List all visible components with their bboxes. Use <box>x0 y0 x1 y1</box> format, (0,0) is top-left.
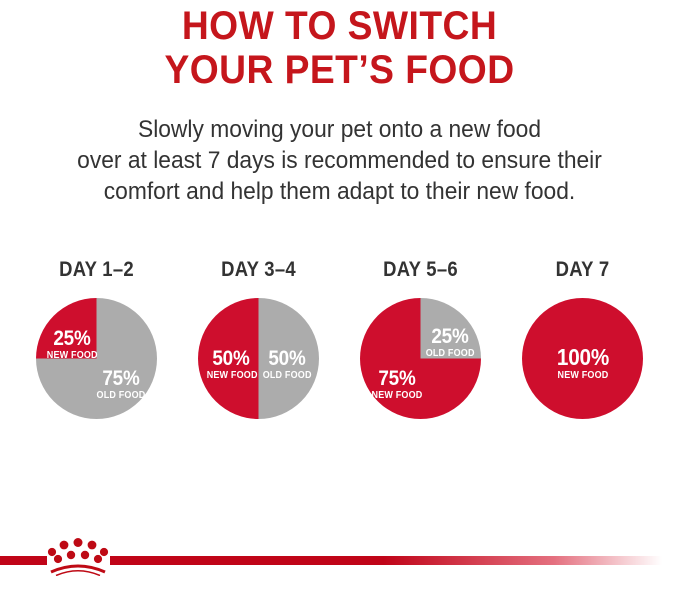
title-line-2: YOUR PET’S FOOD <box>24 48 655 92</box>
intro-line-2: over at least 7 days is recommended to e… <box>17 145 662 176</box>
pie-cell-day-7: DAY 7 100% NEW FOOD <box>502 258 664 419</box>
day-label-4: DAY 7 <box>556 258 610 282</box>
pie-cell-day-1-2: DAY 1–2 25% NEW FOOD 75% OLD FOOD <box>16 258 178 419</box>
pie-chart-day-5-6: 25% OLD FOOD 75% NEW FOOD <box>360 298 481 419</box>
slice-percent: 50% <box>263 348 312 369</box>
royal-canin-crown-icon <box>47 534 109 576</box>
day-label-2: DAY 3–4 <box>221 258 296 282</box>
title-line-1: HOW TO SWITCH <box>24 4 655 48</box>
slice-name: OLD FOOD <box>95 391 147 401</box>
footer-bar-left <box>0 556 47 565</box>
intro-line-3: comfort and help them adapt to their new… <box>17 176 662 207</box>
slice-label-new-food: 25% NEW FOOD <box>44 328 100 361</box>
day-label-3: DAY 5–6 <box>383 258 458 282</box>
day-label-1: DAY 1–2 <box>59 258 134 282</box>
slice-name: OLD FOOD <box>263 371 312 381</box>
footer <box>0 530 679 594</box>
slice-label-new-food: 75% NEW FOOD <box>368 368 426 401</box>
intro-line-1: Slowly moving your pet onto a new food <box>17 114 662 145</box>
page-title: HOW TO SWITCH YOUR PET’S FOOD <box>0 0 679 92</box>
pie-chart-day-3-4: 50% NEW FOOD 50% OLD FOOD <box>198 298 319 419</box>
slice-name: NEW FOOD <box>207 371 256 381</box>
slice-name: OLD FOOD <box>426 349 475 359</box>
slice-label-new-food: 50% NEW FOOD <box>204 348 258 381</box>
slice-label-new-food: 100% NEW FOOD <box>548 346 618 381</box>
slice-percent: 50% <box>207 348 256 369</box>
pie-cell-day-3-4: DAY 3–4 50% NEW FOOD 50% OLD FOOD <box>178 258 340 419</box>
slice-percent: 25% <box>426 326 475 347</box>
pie-cell-day-5-6: DAY 5–6 25% OLD FOOD 75% NEW FOOD <box>340 258 502 419</box>
slice-label-old-food: 25% OLD FOOD <box>423 326 477 359</box>
slice-name: NEW FOOD <box>371 391 423 401</box>
slice-percent: 100% <box>552 346 615 369</box>
infographic-page: { "title": { "line1": "HOW TO SWITCH", "… <box>0 0 679 594</box>
pie-chart-day-1-2: 25% NEW FOOD 75% OLD FOOD <box>36 298 157 419</box>
slice-percent: 75% <box>95 368 147 389</box>
slice-name: NEW FOOD <box>552 371 615 381</box>
slice-percent: 25% <box>47 328 97 349</box>
slice-label-old-food: 75% OLD FOOD <box>92 368 150 401</box>
slice-name: NEW FOOD <box>47 351 97 361</box>
pie-chart-day-7: 100% NEW FOOD <box>522 298 643 419</box>
slice-label-old-food: 50% OLD FOOD <box>260 348 314 381</box>
pie-chart-row: DAY 1–2 25% NEW FOOD 75% OLD FOOD DAY 3–… <box>0 258 679 419</box>
slice-percent: 75% <box>371 368 423 389</box>
footer-bar-right <box>110 556 679 565</box>
intro-paragraph: Slowly moving your pet onto a new food o… <box>0 114 679 207</box>
